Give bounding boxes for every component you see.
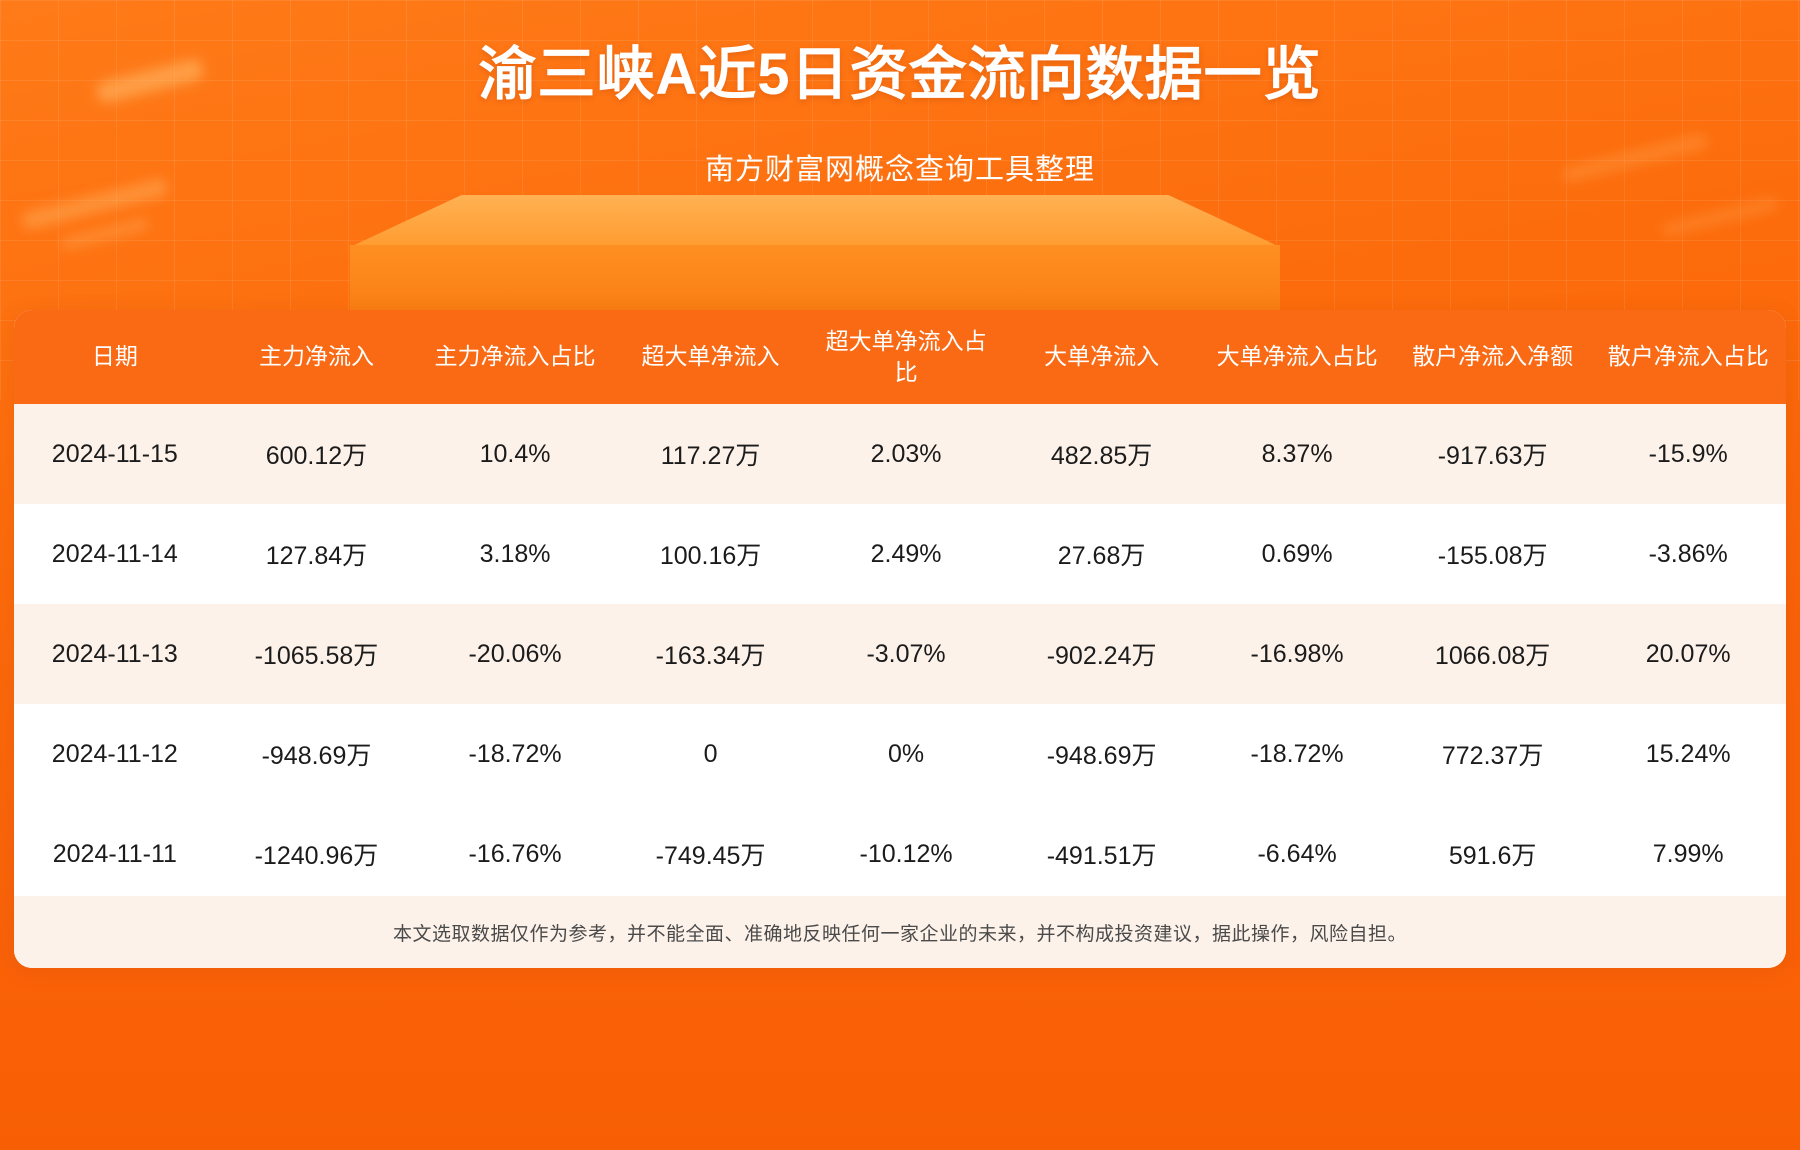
page-subtitle: 南方财富网概念查询工具整理 bbox=[0, 146, 1800, 188]
disclaimer-note: 本文选取数据仅作为参考，并不能全面、准确地反映任何一家企业的未来，并不构成投资建… bbox=[14, 896, 1786, 968]
cell-retail-net-inflow-amount: 591.6万 bbox=[1395, 804, 1591, 904]
table-row: 2024-11-15 600.12万 10.4% 117.27万 2.03% 4… bbox=[14, 404, 1786, 504]
cell-date: 2024-11-12 bbox=[14, 704, 216, 804]
table-header: 日期 主力净流入 主力净流入占比 超大单净流入 超大单净流入占比 大单净流入 大… bbox=[14, 310, 1786, 404]
table-body: 2024-11-15 600.12万 10.4% 117.27万 2.03% 4… bbox=[14, 404, 1786, 904]
bottom-background-strip bbox=[0, 968, 1800, 1150]
column-header-large-net-inflow: 大单净流入 bbox=[1004, 310, 1200, 404]
table-row: 2024-11-12 -948.69万 -18.72% 0 0% -948.69… bbox=[14, 704, 1786, 804]
cell-date: 2024-11-11 bbox=[14, 804, 216, 904]
cell-main-net-inflow: -1065.58万 bbox=[216, 604, 418, 704]
cell-super-large-net-inflow: -749.45万 bbox=[613, 804, 809, 904]
cell-super-large-net-inflow: 117.27万 bbox=[613, 404, 809, 504]
column-header-retail-net-inflow-amount: 散户净流入净额 bbox=[1395, 310, 1591, 404]
column-header-retail-net-inflow-ratio: 散户净流入占比 bbox=[1590, 310, 1786, 404]
cell-retail-net-inflow-amount: -155.08万 bbox=[1395, 504, 1591, 604]
cell-large-net-inflow-ratio: 8.37% bbox=[1199, 404, 1395, 504]
column-header-large-net-inflow-ratio: 大单净流入占比 bbox=[1199, 310, 1395, 404]
column-header-super-large-net-inflow-ratio: 超大单净流入占比 bbox=[808, 310, 1004, 404]
cell-date: 2024-11-15 bbox=[14, 404, 216, 504]
cell-super-large-net-inflow: 0 bbox=[613, 704, 809, 804]
cell-large-net-inflow: -491.51万 bbox=[1004, 804, 1200, 904]
cell-retail-net-inflow-amount: 1066.08万 bbox=[1395, 604, 1591, 704]
cell-large-net-inflow: -948.69万 bbox=[1004, 704, 1200, 804]
cell-retail-net-inflow-amount: 772.37万 bbox=[1395, 704, 1591, 804]
page-root: 渝三峡A近5日资金流向数据一览 南方财富网概念查询工具整理 南方财富网 Sout… bbox=[0, 0, 1800, 1150]
cell-super-large-net-inflow-ratio: 2.49% bbox=[808, 504, 1004, 604]
cell-date: 2024-11-14 bbox=[14, 504, 216, 604]
cell-retail-net-inflow-ratio: 15.24% bbox=[1590, 704, 1786, 804]
cell-large-net-inflow: -902.24万 bbox=[1004, 604, 1200, 704]
cell-main-net-inflow: 127.84万 bbox=[216, 504, 418, 604]
data-card: 南方财富网 Southmoney.com 日期 主力净流入 主力净流入占比 超大… bbox=[14, 310, 1786, 968]
cell-large-net-inflow-ratio: -16.98% bbox=[1199, 604, 1395, 704]
cell-large-net-inflow-ratio: -18.72% bbox=[1199, 704, 1395, 804]
table-row: 2024-11-14 127.84万 3.18% 100.16万 2.49% 2… bbox=[14, 504, 1786, 604]
cell-main-net-inflow-ratio: 10.4% bbox=[417, 404, 613, 504]
cell-main-net-inflow-ratio: -18.72% bbox=[417, 704, 613, 804]
cell-super-large-net-inflow: -163.34万 bbox=[613, 604, 809, 704]
table-row: 2024-11-13 -1065.58万 -20.06% -163.34万 -3… bbox=[14, 604, 1786, 704]
cell-retail-net-inflow-amount: -917.63万 bbox=[1395, 404, 1591, 504]
cell-large-net-inflow-ratio: 0.69% bbox=[1199, 504, 1395, 604]
cell-main-net-inflow-ratio: -20.06% bbox=[417, 604, 613, 704]
table-wrapper: 日期 主力净流入 主力净流入占比 超大单净流入 超大单净流入占比 大单净流入 大… bbox=[14, 310, 1786, 904]
column-header-date: 日期 bbox=[14, 310, 216, 404]
cell-super-large-net-inflow: 100.16万 bbox=[613, 504, 809, 604]
cell-super-large-net-inflow-ratio: -3.07% bbox=[808, 604, 1004, 704]
cell-large-net-inflow-ratio: -6.64% bbox=[1199, 804, 1395, 904]
column-header-main-net-inflow: 主力净流入 bbox=[216, 310, 418, 404]
cell-super-large-net-inflow-ratio: -10.12% bbox=[808, 804, 1004, 904]
fund-flow-table: 日期 主力净流入 主力净流入占比 超大单净流入 超大单净流入占比 大单净流入 大… bbox=[14, 310, 1786, 904]
cell-retail-net-inflow-ratio: -15.9% bbox=[1590, 404, 1786, 504]
cell-large-net-inflow: 27.68万 bbox=[1004, 504, 1200, 604]
cell-main-net-inflow: -948.69万 bbox=[216, 704, 418, 804]
cell-large-net-inflow: 482.85万 bbox=[1004, 404, 1200, 504]
page-title: 渝三峡A近5日资金流向数据一览 bbox=[0, 42, 1800, 109]
cell-retail-net-inflow-ratio: -3.86% bbox=[1590, 504, 1786, 604]
column-header-main-net-inflow-ratio: 主力净流入占比 bbox=[417, 310, 613, 404]
column-header-super-large-net-inflow: 超大单净流入 bbox=[613, 310, 809, 404]
cell-main-net-inflow: 600.12万 bbox=[216, 404, 418, 504]
cell-retail-net-inflow-ratio: 20.07% bbox=[1590, 604, 1786, 704]
podium-top-block bbox=[350, 195, 1280, 247]
table-header-row: 日期 主力净流入 主力净流入占比 超大单净流入 超大单净流入占比 大单净流入 大… bbox=[14, 310, 1786, 404]
table-row: 2024-11-11 -1240.96万 -16.76% -749.45万 -1… bbox=[14, 804, 1786, 904]
cell-date: 2024-11-13 bbox=[14, 604, 216, 704]
cell-main-net-inflow-ratio: 3.18% bbox=[417, 504, 613, 604]
cell-super-large-net-inflow-ratio: 2.03% bbox=[808, 404, 1004, 504]
cell-retail-net-inflow-ratio: 7.99% bbox=[1590, 804, 1786, 904]
cell-main-net-inflow: -1240.96万 bbox=[216, 804, 418, 904]
cell-main-net-inflow-ratio: -16.76% bbox=[417, 804, 613, 904]
cell-super-large-net-inflow-ratio: 0% bbox=[808, 704, 1004, 804]
